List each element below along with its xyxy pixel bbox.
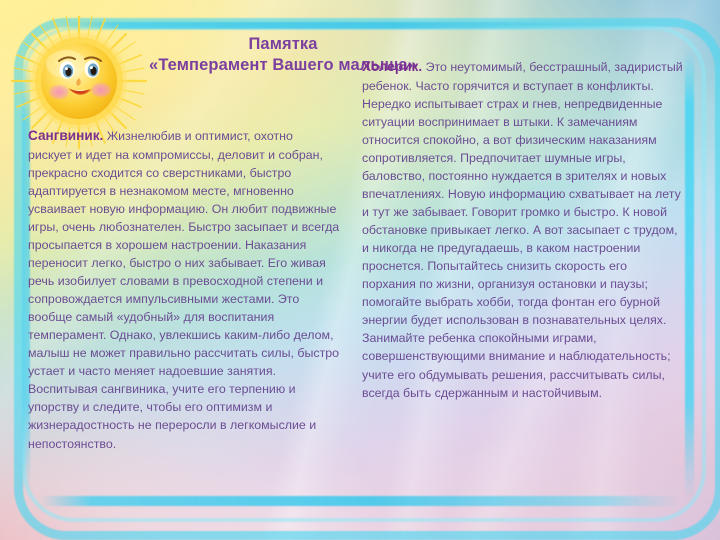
frame-right-band: [685, 50, 694, 500]
slide-canvas: Памятка «Темперамент Вашего малыша» Санг…: [0, 0, 720, 540]
paragraph-heading-sangvinik: Сангвиник: [28, 128, 100, 143]
title-line-1: Памятка: [118, 34, 448, 55]
frame-bottom-band: [40, 496, 680, 506]
paragraph-kholerik: Холерик. Это неутомимый, бесстрашный, за…: [362, 57, 684, 402]
paragraph-body-sangvinik: Жизнелюбив и оптимист, охотно рискует и …: [28, 129, 343, 451]
paragraph-sangvinik: Сангвиник. Жизнелюбив и оптимист, охотно…: [28, 126, 340, 453]
paragraph-heading-kholerik: Холерик: [362, 59, 418, 74]
paragraph-body-kholerik: Это неутомимый, бесстрашный, задиристый …: [362, 60, 686, 400]
